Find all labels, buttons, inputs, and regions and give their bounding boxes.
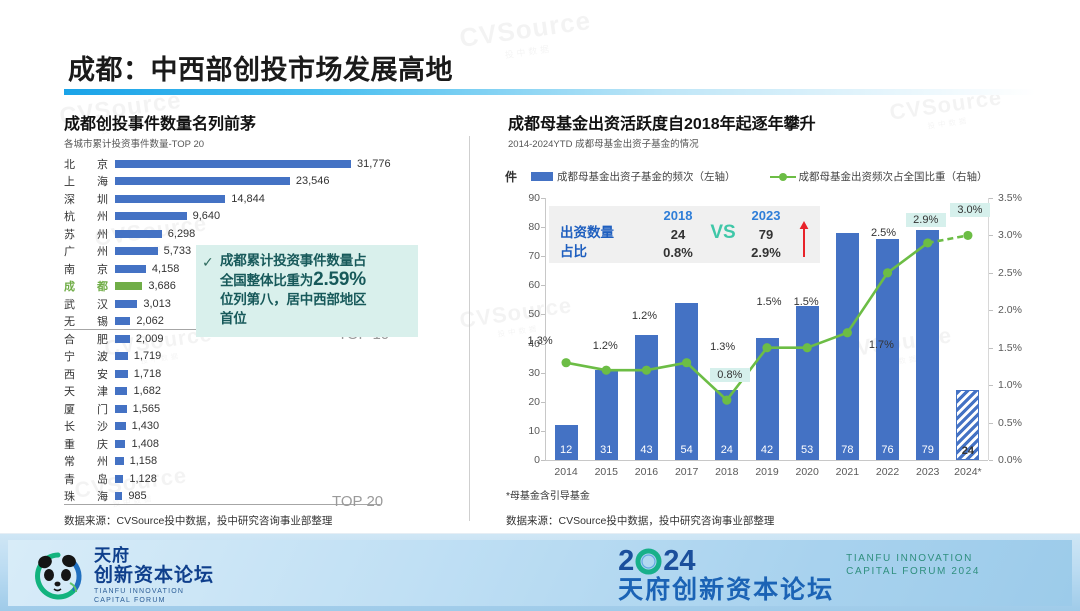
logo-cn-line1: 天府 bbox=[94, 547, 214, 565]
x-axis-tick-label: 2020 bbox=[787, 466, 827, 478]
line-percent-label: 3.0% bbox=[950, 203, 990, 217]
line-percent-label: 0.8% bbox=[710, 368, 750, 382]
city-value-label: 3,686 bbox=[148, 280, 176, 292]
chengdu-callout-box: ✓ 成都累计投资事件数量占 全国整体比重为2.59% 位列第八，居中西部地区 首… bbox=[196, 245, 418, 337]
y-axis-right-tick bbox=[989, 348, 993, 349]
y-axis-right-tick-label: 1.5% bbox=[998, 342, 1022, 354]
logo-en-line1: TIANFU INNOVATION bbox=[94, 587, 214, 596]
city-bar-row: 珠海985 bbox=[64, 488, 454, 506]
y-axis-left-tick bbox=[541, 198, 545, 199]
y-axis-left-tick-label: 30 bbox=[528, 367, 540, 379]
city-value-label: 1,430 bbox=[132, 420, 160, 432]
slide-root: CVSource投中数据 CVSource投中数据 CVSource投中数据 C… bbox=[0, 0, 1080, 611]
legend-line-swatch bbox=[770, 172, 796, 182]
bottom-axis-line bbox=[545, 460, 988, 461]
panda-logo-icon bbox=[30, 549, 86, 603]
callout-line3: 位列第八，居中西部地区 bbox=[220, 292, 366, 307]
left-source-note: 数据来源：CVSource投中数据，投中研究咨询事业部整理 bbox=[64, 513, 332, 528]
vs-row-labels: 出资数量 占比 bbox=[560, 223, 614, 261]
city-value-label: 1,682 bbox=[133, 385, 161, 397]
page-title: 成都：中西部创投市场发展高地 bbox=[68, 48, 453, 87]
city-bar bbox=[115, 405, 127, 413]
city-label: 重庆 bbox=[64, 436, 110, 452]
city-bar bbox=[115, 387, 127, 395]
y-axis-left-tick bbox=[541, 431, 545, 432]
line-percent-label: 1.3% bbox=[520, 335, 560, 347]
vs-count-a: 24 bbox=[651, 226, 705, 244]
city-bar bbox=[115, 230, 162, 238]
vs-row-label-count: 出资数量 bbox=[560, 223, 614, 242]
city-bar bbox=[115, 335, 130, 343]
city-label: 杭州 bbox=[64, 208, 110, 224]
city-bar-row: 长沙1,430 bbox=[64, 418, 454, 436]
y-axis-unit-label: 件 bbox=[505, 168, 517, 185]
y-axis-right-tick-label: 0.5% bbox=[998, 417, 1022, 429]
city-value-label: 31,776 bbox=[357, 158, 391, 170]
vs-label: VS bbox=[705, 222, 741, 244]
vs-pct-a: 0.8% bbox=[651, 244, 705, 262]
logo-cn-line2: 创新资本论坛 bbox=[94, 565, 214, 587]
y-axis-right-tick-label: 2.5% bbox=[998, 267, 1022, 279]
y-axis-left-tick-label: 0 bbox=[534, 454, 540, 466]
x-axis-tick-label: 2018 bbox=[707, 466, 747, 478]
city-bar-row: 苏州6,298 bbox=[64, 225, 454, 243]
city-value-label: 6,298 bbox=[168, 228, 196, 240]
forum-year-logo: 2 24 bbox=[618, 546, 834, 576]
y-axis-right-tick-label: 2.0% bbox=[998, 304, 1022, 316]
city-value-label: 985 bbox=[128, 490, 146, 502]
city-label: 成都 bbox=[64, 278, 110, 294]
left-panel-subtitle: 各城市累计投资事件数量-TOP 20 bbox=[64, 136, 204, 150]
city-bar-row: 上海23,546 bbox=[64, 173, 454, 191]
panel-divider bbox=[469, 136, 470, 521]
line-percent-label: 2.9% bbox=[906, 213, 946, 227]
vs-row-label-share: 占比 bbox=[560, 242, 614, 261]
vs-count-b: 79 bbox=[739, 226, 793, 244]
y-axis-left-tick-label: 50 bbox=[528, 308, 540, 320]
y-axis-right-tick bbox=[989, 385, 993, 386]
city-label: 宁波 bbox=[64, 348, 110, 364]
forum-cn-name: 天府创新资本论坛 bbox=[618, 576, 834, 604]
city-bar bbox=[115, 422, 126, 430]
city-bar bbox=[115, 492, 122, 500]
y-axis-right-tick bbox=[989, 235, 993, 236]
city-bar-row: 重庆1,408 bbox=[64, 435, 454, 453]
vs-values-b: 79 2.9% bbox=[739, 226, 793, 262]
city-value-label: 3,013 bbox=[143, 298, 171, 310]
y-axis-left-tick-label: 90 bbox=[528, 192, 540, 204]
line-percent-label: 1.2% bbox=[624, 310, 664, 322]
callout-line4: 首位 bbox=[220, 311, 247, 326]
up-arrow-icon bbox=[798, 221, 810, 257]
vs-year-a: 2018 bbox=[651, 208, 705, 223]
vs-comparison-box: 出资数量 占比 2018 2023 VS 24 0.8% 79 2.9% bbox=[549, 206, 820, 263]
x-axis-tick-label: 2022 bbox=[867, 466, 907, 478]
city-value-label: 1,718 bbox=[134, 368, 162, 380]
x-axis-tick-label: 2019 bbox=[747, 466, 787, 478]
y-axis-left-tick bbox=[541, 285, 545, 286]
city-bar bbox=[115, 370, 128, 378]
line-percent-label: 1.7% bbox=[861, 339, 901, 351]
y-axis-right-tick-label: 3.0% bbox=[998, 229, 1022, 241]
city-bar bbox=[115, 265, 146, 273]
y-axis-left-tick-label: 80 bbox=[528, 221, 540, 233]
city-label: 长沙 bbox=[64, 418, 110, 434]
city-bar-row: 常州1,158 bbox=[64, 453, 454, 471]
y-axis-right-tick bbox=[989, 423, 993, 424]
logo-en-line2: CAPITAL FORUM bbox=[94, 596, 214, 605]
city-value-label: 23,546 bbox=[296, 175, 330, 187]
city-label: 合肥 bbox=[64, 331, 110, 347]
forum-en-line2: CAPITAL FORUM 2024 bbox=[846, 565, 980, 578]
x-axis-tick-label: 2016 bbox=[626, 466, 666, 478]
city-label: 无锡 bbox=[64, 313, 110, 329]
y-axis-right-tick bbox=[989, 273, 993, 274]
y-axis-right-tick bbox=[989, 198, 993, 199]
y-axis-left-tick-label: 10 bbox=[528, 425, 540, 437]
city-bar bbox=[115, 457, 124, 465]
city-bar-row: 北京31,776 bbox=[64, 155, 454, 173]
city-label: 青岛 bbox=[64, 471, 110, 487]
right-panel-title: 成都母基金出资活跃度自2018年起逐年攀升 bbox=[508, 110, 816, 134]
x-axis-tick-label: 2024* bbox=[948, 466, 988, 478]
footer-inner: 天府 创新资本论坛 TIANFU INNOVATION CAPITAL FORU… bbox=[8, 540, 1072, 606]
title-underline-rule bbox=[64, 89, 1036, 95]
forum-logo-left: 天府 创新资本论坛 TIANFU INNOVATION CAPITAL FORU… bbox=[30, 547, 214, 605]
y-axis-left-tick bbox=[541, 402, 545, 403]
city-bar-row: 天津1,682 bbox=[64, 383, 454, 401]
vs-pct-b: 2.9% bbox=[739, 244, 793, 262]
y-axis-right-tick bbox=[989, 310, 993, 311]
x-axis-tick-label: 2017 bbox=[667, 466, 707, 478]
y-axis-left-tick bbox=[541, 314, 545, 315]
city-label: 南京 bbox=[64, 261, 110, 277]
y-axis-left-tick bbox=[541, 227, 545, 228]
y-axis-left-tick bbox=[541, 460, 545, 461]
chart-legend: 件 成都母基金出资子基金的频次（左轴） 成都母基金出资频次占全国比重（右轴） bbox=[505, 168, 988, 185]
city-value-label: 4,158 bbox=[152, 263, 180, 275]
legend-label-line: 成都母基金出资频次占全国比重（右轴） bbox=[799, 169, 988, 184]
city-bar bbox=[115, 195, 225, 203]
x-axis-tick-label: 2014 bbox=[546, 466, 586, 478]
city-value-label: 1,128 bbox=[129, 473, 157, 485]
x-axis-tick-label: 2021 bbox=[827, 466, 867, 478]
callout-highlight: 2.59% bbox=[313, 269, 366, 290]
city-bar bbox=[115, 352, 128, 360]
city-value-label: 1,158 bbox=[130, 455, 158, 467]
right-footnote: *母基金含引导基金 bbox=[506, 487, 590, 502]
y-axis-right-tick-label: 0.0% bbox=[998, 454, 1022, 466]
callout-text: 成都累计投资事件数量占 全国整体比重为2.59% 位列第八，居中西部地区 首位 bbox=[220, 251, 366, 337]
city-bar-row: 深圳14,844 bbox=[64, 190, 454, 208]
x-axis-tick-label: 2015 bbox=[586, 466, 626, 478]
line-percent-label: 1.5% bbox=[786, 296, 826, 308]
vs-year-b: 2023 bbox=[739, 208, 793, 223]
city-value-label: 1,719 bbox=[134, 350, 162, 362]
circle-o-icon bbox=[635, 548, 662, 575]
line-percent-label: 2.5% bbox=[864, 227, 904, 239]
city-value-label: 2,062 bbox=[136, 315, 164, 327]
city-bar bbox=[115, 160, 351, 168]
line-percent-label: 1.2% bbox=[585, 340, 625, 352]
city-value-label: 1,565 bbox=[133, 403, 161, 415]
footer-banner: 天府 创新资本论坛 TIANFU INNOVATION CAPITAL FORU… bbox=[0, 533, 1080, 611]
city-value-label: 2,009 bbox=[136, 333, 164, 345]
line-percent-label: 1.3% bbox=[703, 341, 743, 353]
y-axis-right-tick-label: 3.5% bbox=[998, 192, 1022, 204]
callout-line2: 全国整体比重为 bbox=[220, 273, 313, 288]
city-label: 广州 bbox=[64, 243, 110, 259]
city-label: 常州 bbox=[64, 453, 110, 469]
check-icon: ✓ bbox=[202, 251, 220, 337]
right-panel-subtitle: 2014-2024YTD 成都母基金出资子基金的情况 bbox=[508, 136, 699, 150]
city-label: 武汉 bbox=[64, 296, 110, 312]
callout-line1: 成都累计投资事件数量占 bbox=[220, 253, 366, 268]
city-label: 北京 bbox=[64, 156, 110, 172]
vs-values-a: 24 0.8% bbox=[651, 226, 705, 262]
top20-tag: TOP 20 bbox=[332, 493, 383, 510]
right-axis-line bbox=[988, 198, 989, 460]
city-label: 天津 bbox=[64, 383, 110, 399]
city-bar bbox=[115, 247, 158, 255]
city-label: 西安 bbox=[64, 366, 110, 382]
city-bar bbox=[115, 317, 130, 325]
city-label: 厦门 bbox=[64, 401, 110, 417]
city-bar-row: 宁波1,719 bbox=[64, 348, 454, 366]
legend-label-bar: 成都母基金出资子基金的频次（左轴） bbox=[557, 169, 736, 184]
city-bar bbox=[115, 300, 137, 308]
forum-logo-left-text: 天府 创新资本论坛 TIANFU INNOVATION CAPITAL FORU… bbox=[94, 547, 214, 605]
city-bar bbox=[115, 282, 142, 290]
line-percent-label: 1.5% bbox=[749, 296, 789, 308]
city-bar-row: 西安1,718 bbox=[64, 365, 454, 383]
x-axis-tick-label: 2023 bbox=[908, 466, 948, 478]
city-bar-row: 青岛1,128 bbox=[64, 470, 454, 488]
city-bar-row: 厦门1,565 bbox=[64, 400, 454, 418]
city-label: 苏州 bbox=[64, 226, 110, 242]
watermark: CVSource投中数据 bbox=[458, 5, 595, 67]
city-bar bbox=[115, 440, 125, 448]
city-bar bbox=[115, 475, 123, 483]
right-source-note: 数据来源：CVSource投中数据，投中研究咨询事业部整理 bbox=[506, 513, 774, 528]
forum-en-line1: TIANFU INNOVATION bbox=[846, 552, 980, 565]
y-axis-right-tick-label: 1.0% bbox=[998, 379, 1022, 391]
city-label: 深圳 bbox=[64, 191, 110, 207]
left-panel-title: 成都创投事件数量名列前茅 bbox=[64, 110, 256, 134]
city-label: 珠海 bbox=[64, 488, 110, 504]
y-axis-left-tick-label: 20 bbox=[528, 396, 540, 408]
legend-bar-swatch bbox=[531, 172, 553, 181]
y-axis-left-tick bbox=[541, 256, 545, 257]
city-bar bbox=[115, 177, 290, 185]
y-axis-left-tick-label: 60 bbox=[528, 279, 540, 291]
city-label: 上海 bbox=[64, 173, 110, 189]
y-axis-left-tick-label: 70 bbox=[528, 250, 540, 262]
city-value-label: 5,733 bbox=[164, 245, 192, 257]
city-bar bbox=[115, 212, 187, 220]
y-axis-right-tick bbox=[989, 460, 993, 461]
y-axis-left-tick bbox=[541, 373, 545, 374]
city-value-label: 14,844 bbox=[231, 193, 265, 205]
city-bar-row: 杭州9,640 bbox=[64, 208, 454, 226]
city-value-label: 1,408 bbox=[131, 438, 159, 450]
city-value-label: 9,640 bbox=[193, 210, 221, 222]
forum-logo-right: 2 24 天府创新资本论坛 TIANFU INNOVATION CAPITAL … bbox=[618, 546, 980, 604]
